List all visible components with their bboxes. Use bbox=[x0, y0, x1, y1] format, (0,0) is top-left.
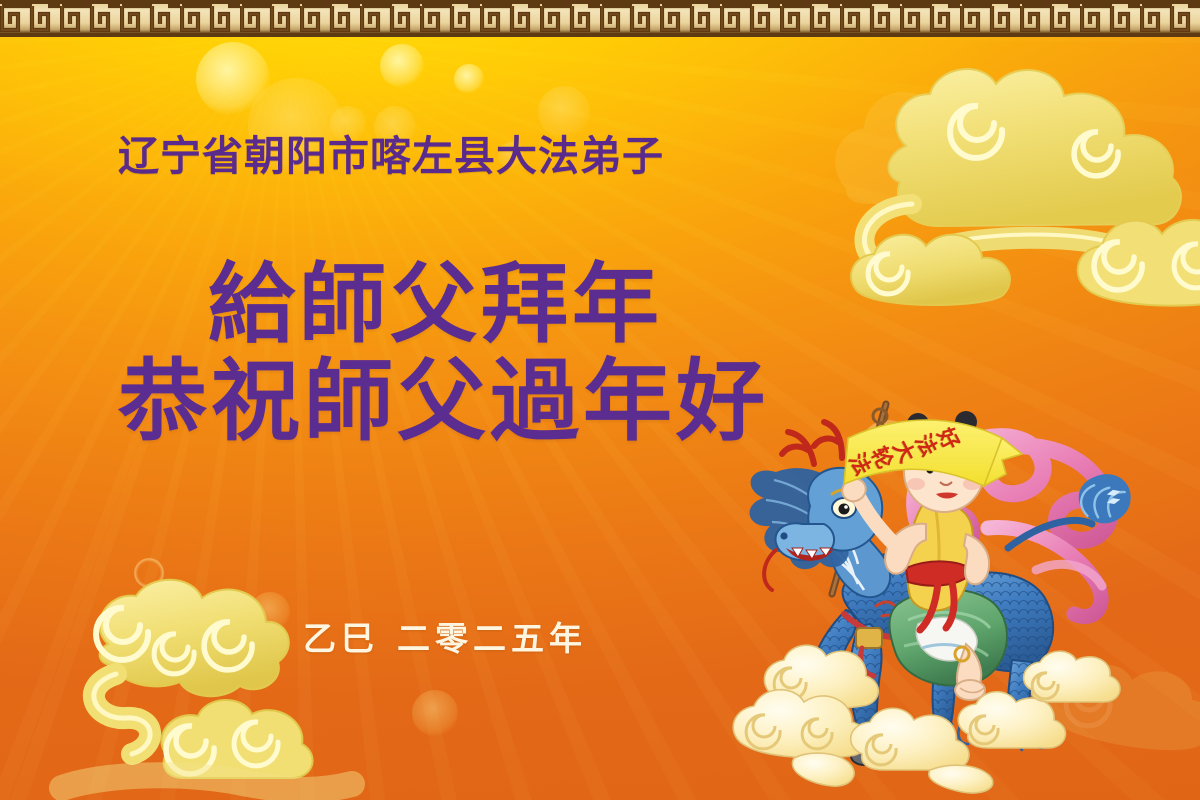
greeting-line-2: 恭祝師父過年好 bbox=[0, 354, 800, 448]
decorative-top-border bbox=[0, 0, 1200, 37]
gregorian-year: 二零二五年 bbox=[397, 619, 587, 658]
greeting-card: 法轮大法好 辽宁省朝阳市喀左县大法弟子 給師父拜年 恭祝師父過年好 乙巳二零二五… bbox=[0, 0, 1200, 800]
greeting-line-1: 給師父拜年 bbox=[0, 258, 800, 350]
date-line: 乙巳二零二五年 bbox=[303, 612, 587, 660]
greeting-block: 給師父拜年 恭祝師父過年好 bbox=[0, 258, 800, 449]
zodiac-year: 乙巳 bbox=[303, 619, 379, 658]
qilin-rider-illustration bbox=[740, 398, 1140, 800]
meander-pattern bbox=[0, 0, 1200, 37]
sender-line: 辽宁省朝阳市喀左县大法弟子 bbox=[118, 132, 664, 180]
